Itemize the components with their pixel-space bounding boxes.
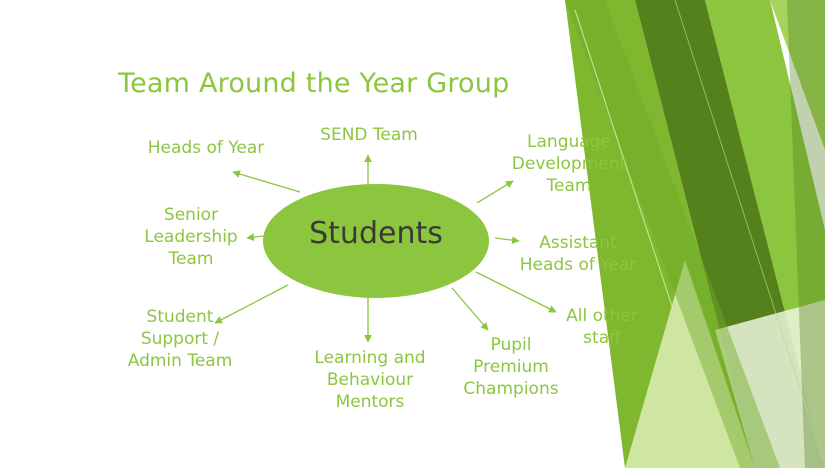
node-language-development-team: Language Development Team: [504, 132, 634, 197]
center-label: Students: [264, 216, 488, 251]
slide: Team Around the Year Group Students Head…: [0, 0, 825, 468]
node-learning-and-behaviour-mentors: Learning and Behaviour Mentors: [306, 348, 434, 413]
node-pupil-premium-champions: Pupil Premium Champions: [455, 335, 567, 400]
spoke-pupil-premium-champions: [452, 288, 488, 330]
node-assistant-heads-of-year: Assistant Heads of Year: [512, 233, 644, 277]
node-student-support-admin-team: Student Support / Admin Team: [114, 307, 246, 372]
node-all-other-staff: All other staff: [552, 306, 652, 350]
node-heads-of-year: Heads of Year: [136, 138, 276, 160]
spoke-all-other-staff: [476, 272, 556, 312]
node-send-team: SEND Team: [305, 125, 433, 147]
spoke-heads-of-year: [233, 172, 300, 192]
node-senior-leadership-team: Senior Leadership Team: [128, 205, 254, 270]
